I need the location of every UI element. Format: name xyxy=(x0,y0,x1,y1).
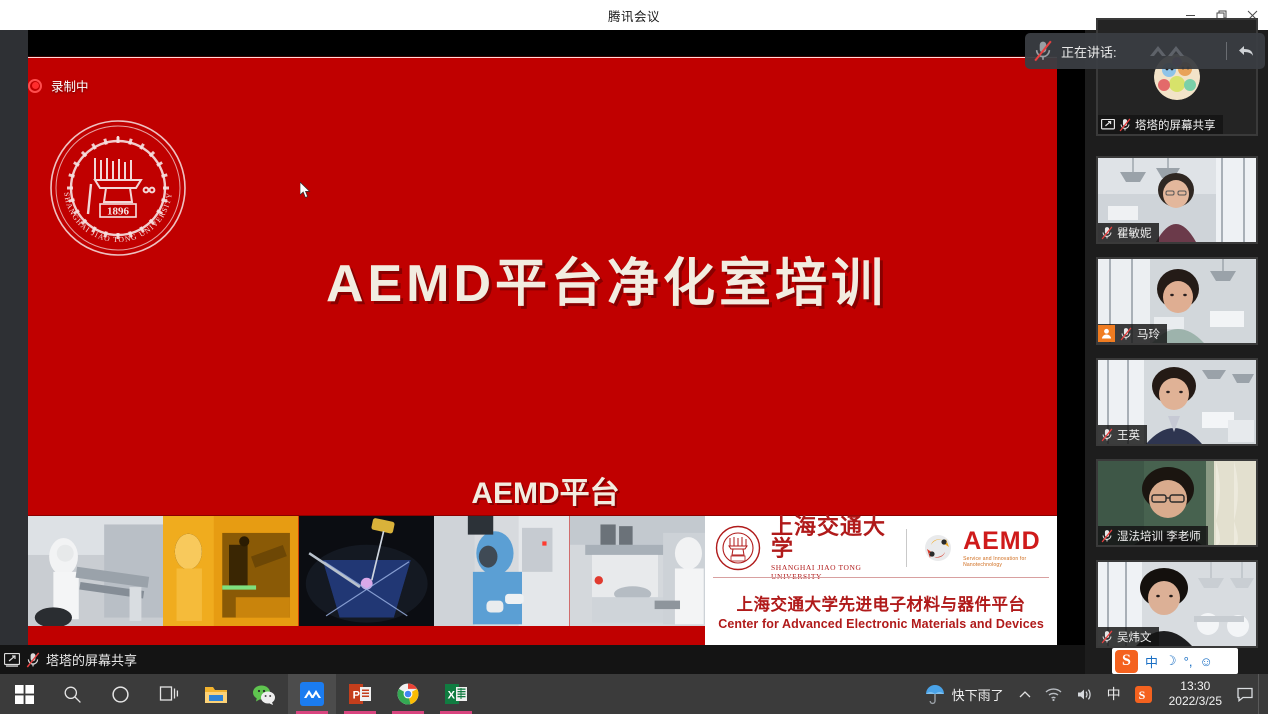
ime-punctuation-icon[interactable]: °, xyxy=(1184,654,1193,669)
mic-muted-icon xyxy=(1119,118,1131,132)
show-desktop-button[interactable] xyxy=(1258,674,1264,714)
mic-muted-icon xyxy=(1120,327,1132,341)
powerpoint-icon: P xyxy=(349,683,371,705)
volume-button[interactable] xyxy=(1069,674,1100,714)
participant-tile: 瞿敏妮 xyxy=(1096,156,1258,244)
host-badge xyxy=(1098,325,1115,342)
participant-video: 马玲 xyxy=(1098,259,1256,343)
back-arrow-icon[interactable] xyxy=(1237,42,1255,60)
chrome-button[interactable] xyxy=(384,674,432,714)
tencent-meeting-button[interactable] xyxy=(288,674,336,714)
slide-top-rule xyxy=(28,56,1057,60)
wechat-icon xyxy=(252,684,276,705)
wechat-button[interactable] xyxy=(240,674,288,714)
participant-video: 湿法培训 李老师 xyxy=(1098,461,1256,545)
ime-mode-chinese[interactable]: 中 xyxy=(1145,652,1158,671)
participant-name: 湿法培训 李老师 xyxy=(1117,528,1201,544)
mouse-cursor xyxy=(300,182,312,199)
tray-expand-button[interactable] xyxy=(1012,674,1038,714)
participant-tile: 吴炜文 xyxy=(1096,560,1258,648)
sjtu-seal-logo: 1896 SHANGHAI JIAO TONG UNIVERSITY xyxy=(48,118,188,258)
stage-letterbox-top xyxy=(0,30,1085,56)
svg-text:P: P xyxy=(353,690,360,702)
photo-wafer-handling-closeup xyxy=(299,516,434,645)
network-button[interactable] xyxy=(1038,674,1069,714)
tencent-meeting-icon xyxy=(300,682,324,706)
speaking-overlay[interactable]: 正在讲话: xyxy=(1025,33,1265,69)
participant-name: 王英 xyxy=(1117,427,1140,443)
window-title-bar: 腾讯会议 xyxy=(0,0,1268,30)
banner-platform-en: Center for Advanced Electronic Materials… xyxy=(718,617,1044,631)
recording-label: 录制中 xyxy=(51,76,89,95)
clock-date: 2022/3/25 xyxy=(1169,694,1222,709)
photo-cleanroom-operator-equipment xyxy=(28,516,163,645)
banner-platform-names: 上海交通大学先进电子材料与器件平台 Center for Advanced El… xyxy=(705,578,1057,645)
share-owner-label: 塔塔的屏幕共享 xyxy=(46,650,137,669)
slide-title: AEMD平台净化室培训 xyxy=(28,241,1057,316)
sjtu-seal-small-icon xyxy=(715,525,761,571)
windows-logo-icon xyxy=(15,685,34,704)
screen-share-icon xyxy=(1101,119,1115,131)
participant-video: 吴炜文 xyxy=(1098,562,1256,646)
cortana-circle-icon xyxy=(111,685,130,704)
participant-rail[interactable]: 塔塔的屏幕共享 xyxy=(1085,30,1268,674)
sogou-ime-bar[interactable]: S 中 ☽ °, ☺ xyxy=(1112,648,1238,674)
slide-subtitle-text: AEMD平台 xyxy=(471,477,619,510)
photo-blue-gown-technician xyxy=(434,516,569,645)
svg-text:X: X xyxy=(448,690,456,702)
aemd-sphere-icon xyxy=(923,533,953,563)
slide-subtitle: AEMD平台 xyxy=(28,468,1057,512)
excel-button[interactable]: X xyxy=(432,674,480,714)
stage-left-gutter xyxy=(0,30,28,645)
clock-time: 13:30 xyxy=(1180,679,1210,694)
sogou-tray-icon[interactable]: S xyxy=(1128,674,1159,714)
participant-video: 瞿敏妮 xyxy=(1098,158,1256,242)
weather-widget[interactable]: 快下雨了 xyxy=(910,683,1012,705)
umbrella-icon xyxy=(924,683,946,705)
share-status-bar: 塔塔的屏幕共享 xyxy=(0,645,1085,674)
task-view-button[interactable] xyxy=(144,674,192,714)
volume-icon xyxy=(1076,687,1093,702)
chevron-up-icon xyxy=(1019,690,1031,699)
search-button[interactable] xyxy=(48,674,96,714)
window-title: 腾讯会议 xyxy=(608,6,660,25)
presentation-slide: 录制中 xyxy=(28,56,1057,645)
screen: 腾讯会议 录制中 xyxy=(0,0,1268,714)
file-explorer-button[interactable] xyxy=(192,674,240,714)
svg-text:S: S xyxy=(1138,688,1145,702)
start-button[interactable] xyxy=(0,674,48,714)
ime-moon-icon[interactable]: ☽ xyxy=(1165,653,1177,669)
sogou-icon: S xyxy=(1135,686,1152,703)
overlay-divider xyxy=(1226,42,1227,60)
cortana-button[interactable] xyxy=(96,674,144,714)
svg-text:1896: 1896 xyxy=(107,206,130,218)
participant-tile: 王英 xyxy=(1096,358,1258,446)
banner-university-cn: 上海交通大学 xyxy=(771,516,890,560)
participant-name-bar: 王英 xyxy=(1098,425,1147,444)
participant-name-bar: 马玲 xyxy=(1098,324,1167,343)
meeting-window-body: 录制中 xyxy=(0,30,1268,674)
chrome-icon xyxy=(397,683,419,705)
notification-center-button[interactable] xyxy=(1232,674,1258,714)
participant-video: 王英 xyxy=(1098,360,1256,444)
banner-logos-row: 上海交通大学 SHANGHAI JIAO TONG UNIVERSITY xyxy=(705,516,1057,576)
weather-text: 快下雨了 xyxy=(952,685,1004,704)
banner-platform-cn: 上海交通大学先进电子材料与器件平台 xyxy=(737,591,1026,615)
photo-yellow-room-lithography xyxy=(163,516,298,645)
wifi-icon xyxy=(1045,687,1062,702)
recording-indicator: 录制中 xyxy=(28,76,89,95)
mic-muted-icon xyxy=(1101,226,1113,240)
person-icon xyxy=(1101,328,1112,339)
taskbar-clock[interactable]: 13:30 2022/3/25 xyxy=(1159,679,1232,709)
folder-icon xyxy=(204,684,228,705)
slide-footer-banner: 上海交通大学 SHANGHAI JIAO TONG UNIVERSITY xyxy=(705,516,1057,645)
banner-aemd-tagline: Service and Innovation for Nanotechnolog… xyxy=(963,556,1049,568)
participant-name: 塔塔的屏幕共享 xyxy=(1135,117,1216,133)
mic-muted-icon xyxy=(1101,630,1113,644)
taskbar-app-list: P xyxy=(0,674,480,714)
mic-muted-icon xyxy=(1101,529,1113,543)
excel-icon: X xyxy=(445,683,467,705)
mic-muted-icon[interactable] xyxy=(1033,40,1053,62)
participant-name: 瞿敏妮 xyxy=(1117,225,1152,241)
task-view-icon xyxy=(158,685,179,703)
shared-screen-stage[interactable]: 录制中 xyxy=(0,30,1085,674)
notification-icon xyxy=(1237,687,1253,702)
participant-name: 马玲 xyxy=(1137,326,1160,342)
banner-aemd-logo: AEMD xyxy=(963,529,1049,554)
participant-name-bar: 瞿敏妮 xyxy=(1098,223,1159,242)
tencent-meeting-icon xyxy=(1142,40,1200,62)
screen-share-icon xyxy=(4,653,20,667)
mic-muted-icon xyxy=(1101,428,1113,442)
photo-spin-coater-station xyxy=(570,516,705,645)
slide-title-text: AEMD平台净化室培训 xyxy=(326,255,887,313)
windows-taskbar[interactable]: P xyxy=(0,674,1268,714)
banner-divider xyxy=(906,529,907,567)
ime-mode-indicator[interactable]: 中 xyxy=(1100,674,1128,714)
participant-name-bar: 吴炜文 xyxy=(1098,627,1159,646)
participant-tile: 湿法培训 李老师 xyxy=(1096,459,1258,547)
system-tray: 快下雨了 xyxy=(910,674,1268,714)
powerpoint-button[interactable]: P xyxy=(336,674,384,714)
search-icon xyxy=(63,685,82,704)
speaking-label: 正在讲话: xyxy=(1061,42,1117,61)
mic-muted-icon xyxy=(26,652,40,668)
participant-tile: 马玲 xyxy=(1096,257,1258,345)
sogou-logo-icon[interactable]: S xyxy=(1115,650,1138,673)
participant-name-bar: 塔塔的屏幕共享 xyxy=(1098,115,1223,134)
participant-name: 吴炜文 xyxy=(1117,629,1152,645)
recording-dot-icon xyxy=(28,79,42,93)
participant-name-bar: 湿法培训 李老师 xyxy=(1098,526,1208,545)
ime-emoji-icon[interactable]: ☺ xyxy=(1199,654,1212,669)
slide-photo-strip: 上海交通大学 SHANGHAI JIAO TONG UNIVERSITY xyxy=(28,515,1057,645)
